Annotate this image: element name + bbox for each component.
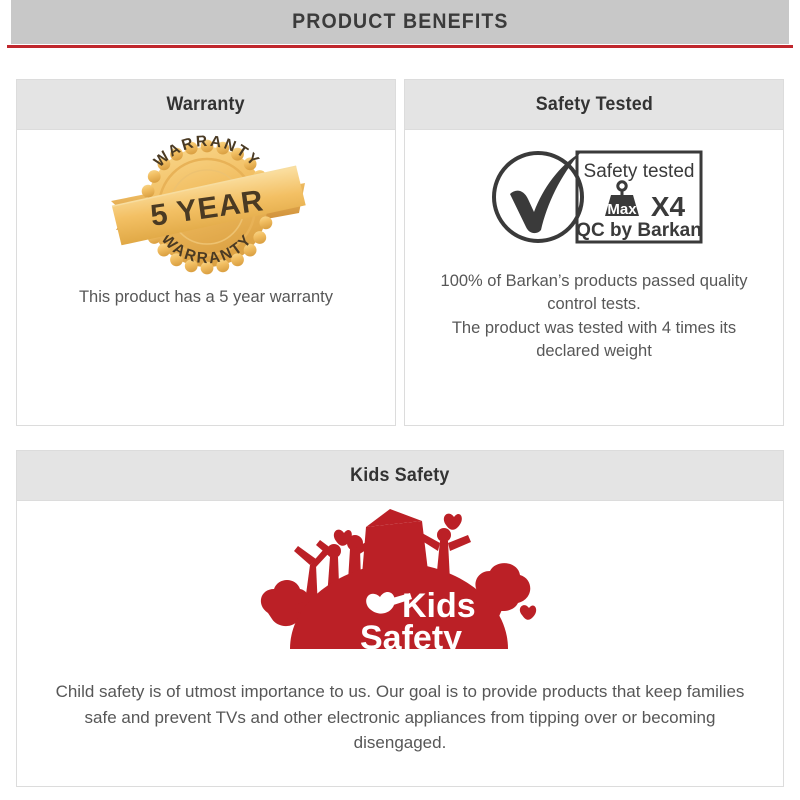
kids-text-wrap: Child safety is of utmost importance to … <box>50 679 750 756</box>
card-kids-safety: Kids Safety <box>16 450 784 787</box>
card-safety-tested: Safety Tested Safety tested <box>404 79 784 426</box>
safety-multiplier-label: X4 <box>651 191 686 222</box>
kids-logo-line2: Safety <box>360 619 462 657</box>
product-benefits-page: PRODUCT BENEFITS Warranty <box>0 0 800 800</box>
card-safety-body: Safety tested Max X4 QC by Barkan 100% o… <box>405 130 783 364</box>
card-warranty-title: Warranty <box>167 94 245 116</box>
kids-description: Child safety is of utmost importance to … <box>50 679 750 756</box>
card-warranty: Warranty <box>16 79 396 426</box>
warranty-description: This product has a 5 year warranty <box>17 286 395 309</box>
safety-tested-figure: Safety tested Max X4 QC by Barkan <box>404 130 784 258</box>
warranty-text-wrap: This product has a 5 year warranty <box>17 286 395 309</box>
card-kids-title: Kids Safety <box>350 465 449 487</box>
page-title: PRODUCT BENEFITS <box>292 10 508 34</box>
weight-max-label: Max <box>607 201 637 218</box>
card-kids-body: Kids Safety Child safety is of utmost im… <box>17 501 783 756</box>
card-warranty-body: WARRANTY WARRANTY 5 YEAR This product ha… <box>17 130 395 309</box>
card-safety-header: Safety Tested <box>405 80 783 130</box>
card-warranty-header: Warranty <box>17 80 395 130</box>
warranty-seal-icon: WARRANTY WARRANTY 5 YEAR <box>99 135 314 275</box>
safety-text-wrap: 100% of Barkan’s products passed quality… <box>424 270 764 364</box>
safety-bottom-label: QC by Barkan <box>576 220 702 241</box>
safety-tested-icon: Safety tested Max X4 QC by Barkan <box>485 138 703 250</box>
kids-safety-logo-icon: Kids Safety <box>250 505 550 665</box>
warranty-badge-figure: WARRANTY WARRANTY 5 YEAR <box>16 130 396 280</box>
card-safety-title: Safety Tested <box>535 94 652 116</box>
weight-icon: Max <box>605 182 639 218</box>
safety-paragraph-1: 100% of Barkan’s products passed quality… <box>424 270 764 317</box>
banner-accent-rule <box>7 45 793 48</box>
safety-paragraph-2: The product was tested with 4 times its … <box>424 317 764 364</box>
safety-top-label: Safety tested <box>584 161 695 182</box>
check-icon <box>510 152 581 233</box>
kids-safety-figure: Kids Safety <box>16 501 784 669</box>
card-kids-header: Kids Safety <box>17 451 783 501</box>
page-banner: PRODUCT BENEFITS <box>11 0 789 44</box>
